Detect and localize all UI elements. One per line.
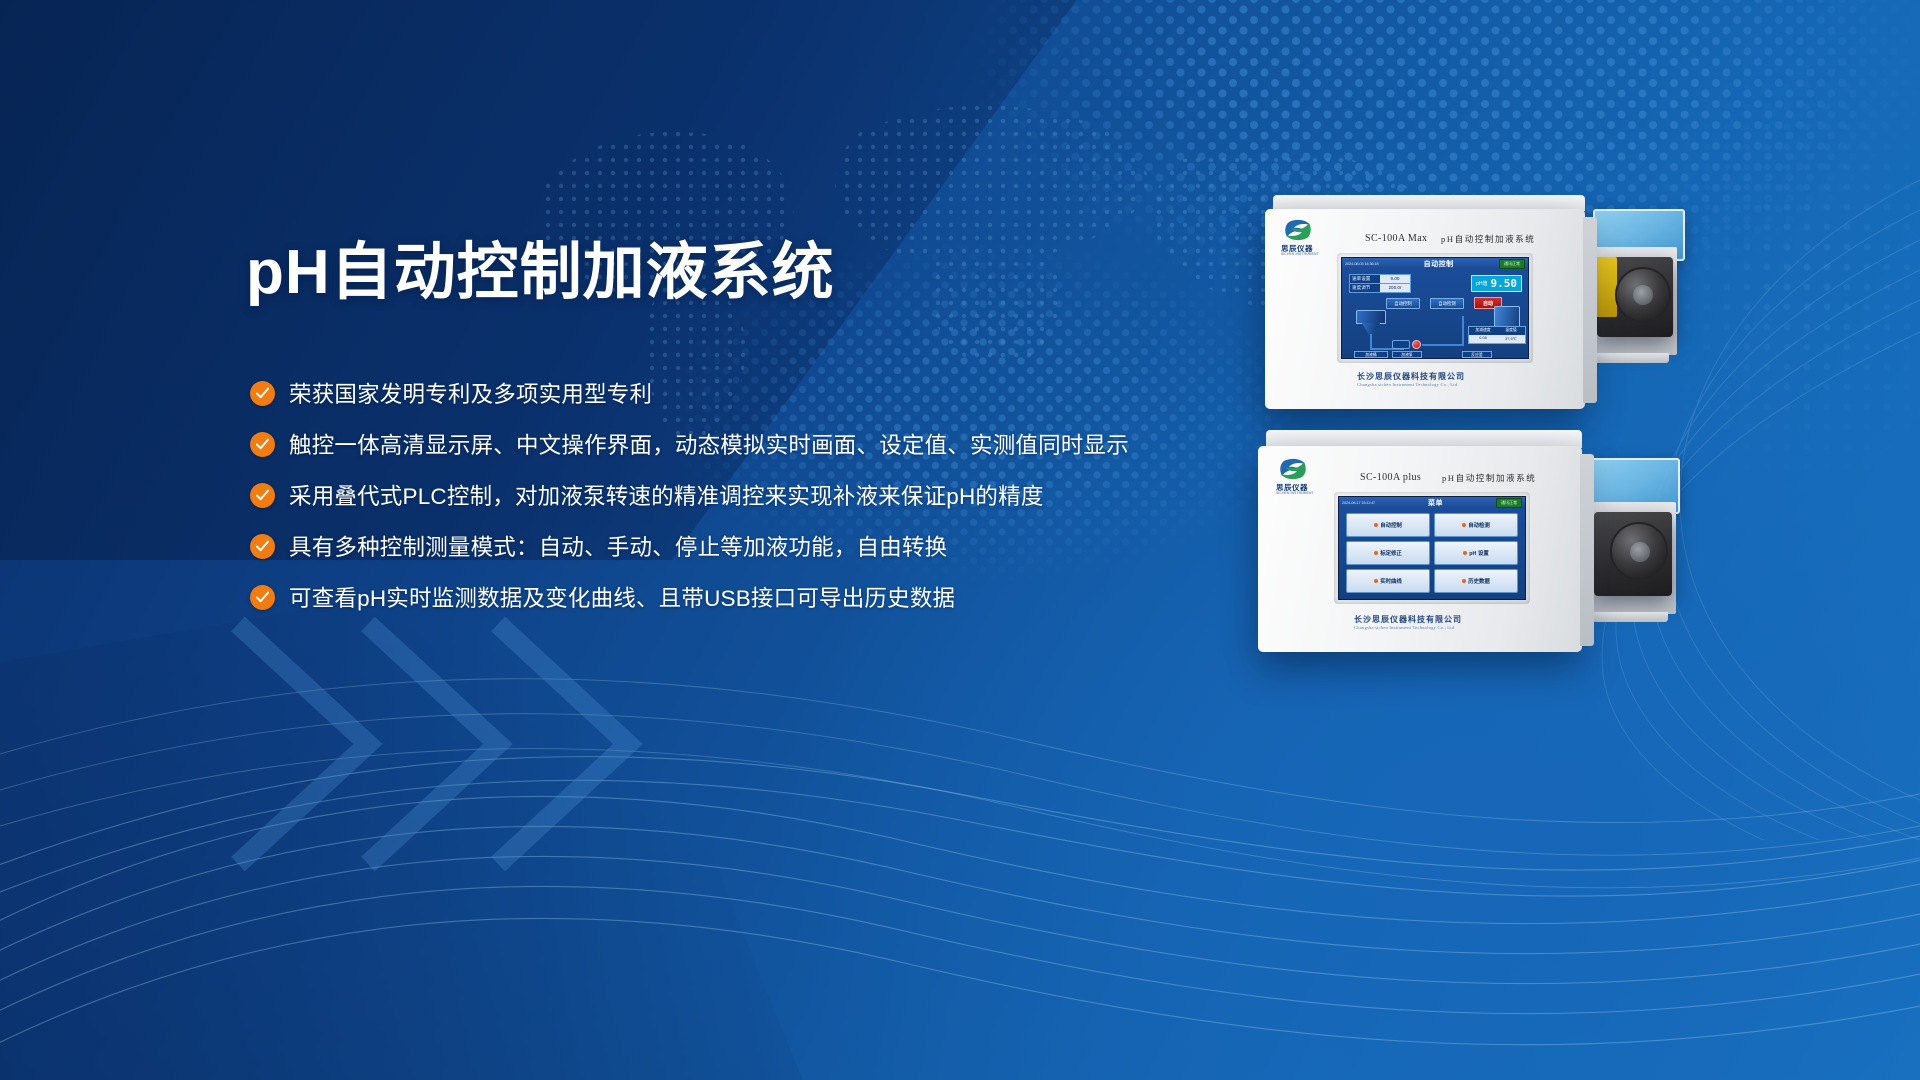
- device-sc100a-plus: 思辰仪器 SICHEN INSTRUMENT SC-100A plus pH自动…: [1258, 430, 1678, 730]
- enclosure-side: [1583, 217, 1597, 403]
- company-name-cn: 长沙思辰仪器科技有限公司: [1354, 614, 1462, 625]
- hmi-menu-page: 2024-08-17 15:11:47 菜单 通讯正常 自动控制 自动检测: [1339, 497, 1525, 599]
- company-name-cn: 长沙思辰仪器科技有限公司: [1357, 371, 1465, 382]
- pump-yellow-cover: [1595, 257, 1617, 317]
- hmi-button-auto-detect[interactable]: 自动检测: [1430, 298, 1464, 309]
- feature-text: 采用叠代式PLC控制，对加液泵转速的精准调控来实现补液来保证pH的精度: [289, 479, 1044, 511]
- ph-label: pH值: [1476, 280, 1487, 287]
- feature-text: 触控一体高清显示屏、中文操作界面，动态模拟实时画面、设定值、实测值同时显示: [289, 428, 1129, 460]
- hmi-timestamp: 2024-08-17 15:11:47: [1342, 500, 1375, 505]
- enclosure-side: [1580, 454, 1594, 646]
- list-item: 采用叠代式PLC控制，对加液泵转速的精准调控来实现补液来保证pH的精度: [250, 470, 1260, 520]
- list-item: 可查看pH实时监测数据及变化曲线、且带USB接口可导出历史数据: [250, 572, 1260, 622]
- bullet-dot-icon: [1463, 551, 1467, 555]
- setpoint-value[interactable]: 9.00: [1380, 275, 1410, 283]
- mimic-vessel-label: 反应釜: [1462, 351, 1492, 358]
- hmi-menu-grid: 自动控制 自动检测 标定修正 pH 设置: [1346, 513, 1518, 593]
- model-suffix-label: pH自动控制加液系统: [1442, 472, 1536, 484]
- readout-pair: 加减速度 温度值 0.08 37.5℃: [1468, 326, 1526, 344]
- hmi-title: 菜单: [1428, 498, 1443, 508]
- readout-value-rate: 0.08: [1469, 335, 1497, 343]
- model-label: SC-100A Max: [1365, 233, 1427, 244]
- banner-content: pH自动控制加液系统 荣获国家发明专利及多项实用型专利 触控一体高清显示屏、中文…: [0, 0, 1100, 1080]
- brand-name-en: SICHEN INSTRUMENT: [1276, 491, 1314, 495]
- menu-item-history-data[interactable]: 历史数据: [1434, 569, 1518, 593]
- check-icon: [250, 483, 275, 508]
- speed-value[interactable]: 200.0r: [1380, 284, 1410, 292]
- bullet-dot-icon: [1374, 551, 1378, 555]
- pump-foot: [1588, 612, 1668, 622]
- ph-value: 9.50: [1491, 277, 1518, 290]
- brand-logo-icon: [1283, 217, 1313, 243]
- feature-text: 可查看pH实时监测数据及变化曲线、且带USB接口可导出历史数据: [289, 581, 955, 613]
- menu-item-auto-detect[interactable]: 自动检测: [1434, 513, 1518, 537]
- readout-label-rate: 加减速度: [1469, 327, 1497, 335]
- hmi-screen[interactable]: 2024-08-03 14:36:18 自动控制 通讯正常 速率设置 9.00 …: [1341, 257, 1529, 359]
- status-badge: 通讯正常: [1499, 259, 1525, 269]
- list-item: 荣获国家发明专利及多项实用型专利: [250, 368, 1260, 418]
- menu-item-label: 自动控制: [1380, 521, 1402, 529]
- hmi-header: 2024-08-03 14:36:18 自动控制 通讯正常: [1342, 258, 1528, 269]
- pump-hub: [1633, 285, 1653, 305]
- hmi-bezel: 2024-08-17 15:11:47 菜单 通讯正常 自动控制 自动检测: [1334, 492, 1530, 604]
- menu-item-label: pH 设置: [1469, 549, 1488, 557]
- hmi-header: 2024-08-17 15:11:47 菜单 通讯正常: [1339, 497, 1525, 508]
- readout-label-temp: 温度值: [1497, 327, 1525, 335]
- pump-hub: [1630, 542, 1650, 562]
- page-title: pH自动控制加液系统: [246, 242, 835, 304]
- menu-item-auto-control[interactable]: 自动控制: [1346, 513, 1430, 537]
- mimic-pipe-to-vessel: [1422, 344, 1464, 346]
- brand-name-en: SICHEN INSTRUMENT: [1281, 252, 1319, 256]
- check-icon: [250, 432, 275, 457]
- hmi-auto-control-page: 2024-08-03 14:36:18 自动控制 通讯正常 速率设置 9.00 …: [1342, 258, 1528, 358]
- readout-value-temp: 37.5℃: [1497, 335, 1525, 343]
- hmi-title: 自动控制: [1424, 259, 1454, 269]
- hmi-bezel: 2024-08-03 14:36:18 自动控制 通讯正常 速率设置 9.00 …: [1337, 253, 1533, 363]
- menu-item-ph-settings[interactable]: pH 设置: [1434, 541, 1518, 565]
- menu-item-calibration[interactable]: 标定修正: [1346, 541, 1430, 565]
- bullet-dot-icon: [1462, 523, 1466, 527]
- pump-foot: [1591, 353, 1669, 363]
- bullet-dot-icon: [1462, 579, 1466, 583]
- hmi-button-auto-control[interactable]: 自动控制: [1386, 298, 1420, 309]
- menu-item-label: 历史数据: [1468, 577, 1490, 585]
- mimic-pipe-riser: [1462, 316, 1464, 346]
- bullet-dot-icon: [1374, 523, 1378, 527]
- feature-text: 荣获国家发明专利及多项实用型专利: [289, 377, 652, 409]
- ph-readout: pH值 9.50: [1471, 275, 1522, 292]
- status-badge: 通讯正常: [1496, 498, 1522, 508]
- product-banner: pH自动控制加液系统 荣获国家发明专利及多项实用型专利 触控一体高清显示屏、中文…: [0, 0, 1920, 1080]
- brand-logo-icon: [1278, 456, 1308, 482]
- list-item: 触控一体高清显示屏、中文操作界面，动态模拟实时画面、设定值、实测值同时显示: [250, 419, 1260, 469]
- speed-row: 速度调节 200.0r: [1349, 283, 1411, 293]
- mimic-pump-body: [1392, 340, 1410, 349]
- mimic-pump-label: 加液泵: [1392, 351, 1422, 358]
- list-item: 具有多种控制测量模式：自动、手动、停止等加液功能，自由转换: [250, 521, 1260, 571]
- mimic-tank-label: 加液桶: [1354, 351, 1388, 358]
- setpoint-label: 速率设置: [1350, 275, 1380, 283]
- menu-item-label: 标定修正: [1380, 549, 1402, 557]
- feature-text: 具有多种控制测量模式：自动、手动、停止等加液功能，自由转换: [289, 530, 947, 562]
- check-icon: [250, 534, 275, 559]
- hmi-timestamp: 2024-08-03 14:36:18: [1345, 261, 1378, 266]
- company-name-en: Changsha sichen Instrument Technology Co…: [1354, 625, 1454, 630]
- hmi-screen[interactable]: 2024-08-17 15:11:47 菜单 通讯正常 自动控制 自动检测: [1338, 496, 1526, 600]
- check-icon: [250, 585, 275, 610]
- model-label: SC-100A plus: [1360, 472, 1421, 483]
- bullet-dot-icon: [1374, 579, 1378, 583]
- check-icon: [250, 381, 275, 406]
- menu-item-label: 实时曲线: [1380, 577, 1402, 585]
- company-name-en: Changsha sichen Instrument Technology Co…: [1357, 382, 1457, 387]
- mimic-pump-indicator: [1412, 340, 1421, 349]
- menu-item-label: 自动检测: [1468, 521, 1490, 529]
- menu-item-realtime-curve[interactable]: 实时曲线: [1346, 569, 1430, 593]
- mimic-tank: [1356, 310, 1386, 324]
- speed-label: 速度调节: [1350, 284, 1380, 292]
- model-suffix-label: pH自动控制加液系统: [1441, 233, 1535, 245]
- feature-list: 荣获国家发明专利及多项实用型专利 触控一体高清显示屏、中文操作界面，动态模拟实时…: [250, 368, 1260, 623]
